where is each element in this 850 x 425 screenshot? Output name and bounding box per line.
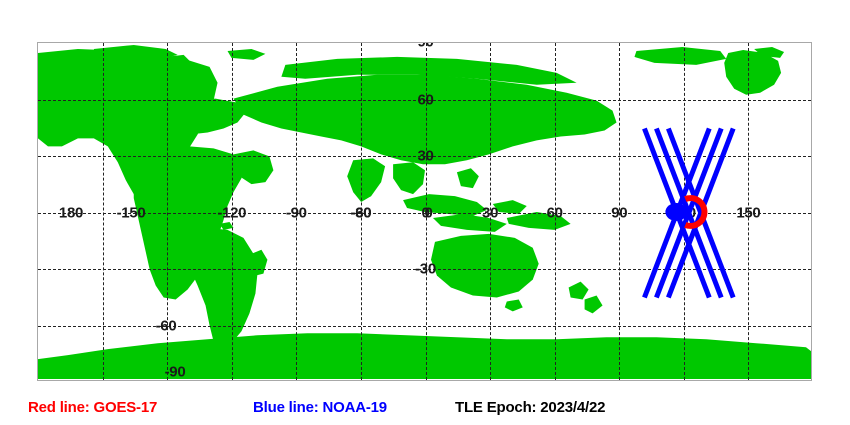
legend-bar: Red line: GOES-17 Blue line: NOAA-19 TLE… xyxy=(0,392,850,425)
legend-goes17: Red line: GOES-17 xyxy=(28,400,157,415)
legend-noaa19: Blue line: NOAA-19 xyxy=(253,400,387,415)
world-map-plot: 90 60 30 0 -30 -60 -90 -30 0 30 60 90 12… xyxy=(37,42,812,381)
satellite-ground-track-app: 90 60 30 0 -30 -60 -90 -30 0 30 60 90 12… xyxy=(0,0,850,425)
legend-tle-epoch: TLE Epoch: 2023/4/22 xyxy=(455,400,605,415)
continents xyxy=(38,45,811,379)
world-landmass-layer xyxy=(38,43,811,380)
